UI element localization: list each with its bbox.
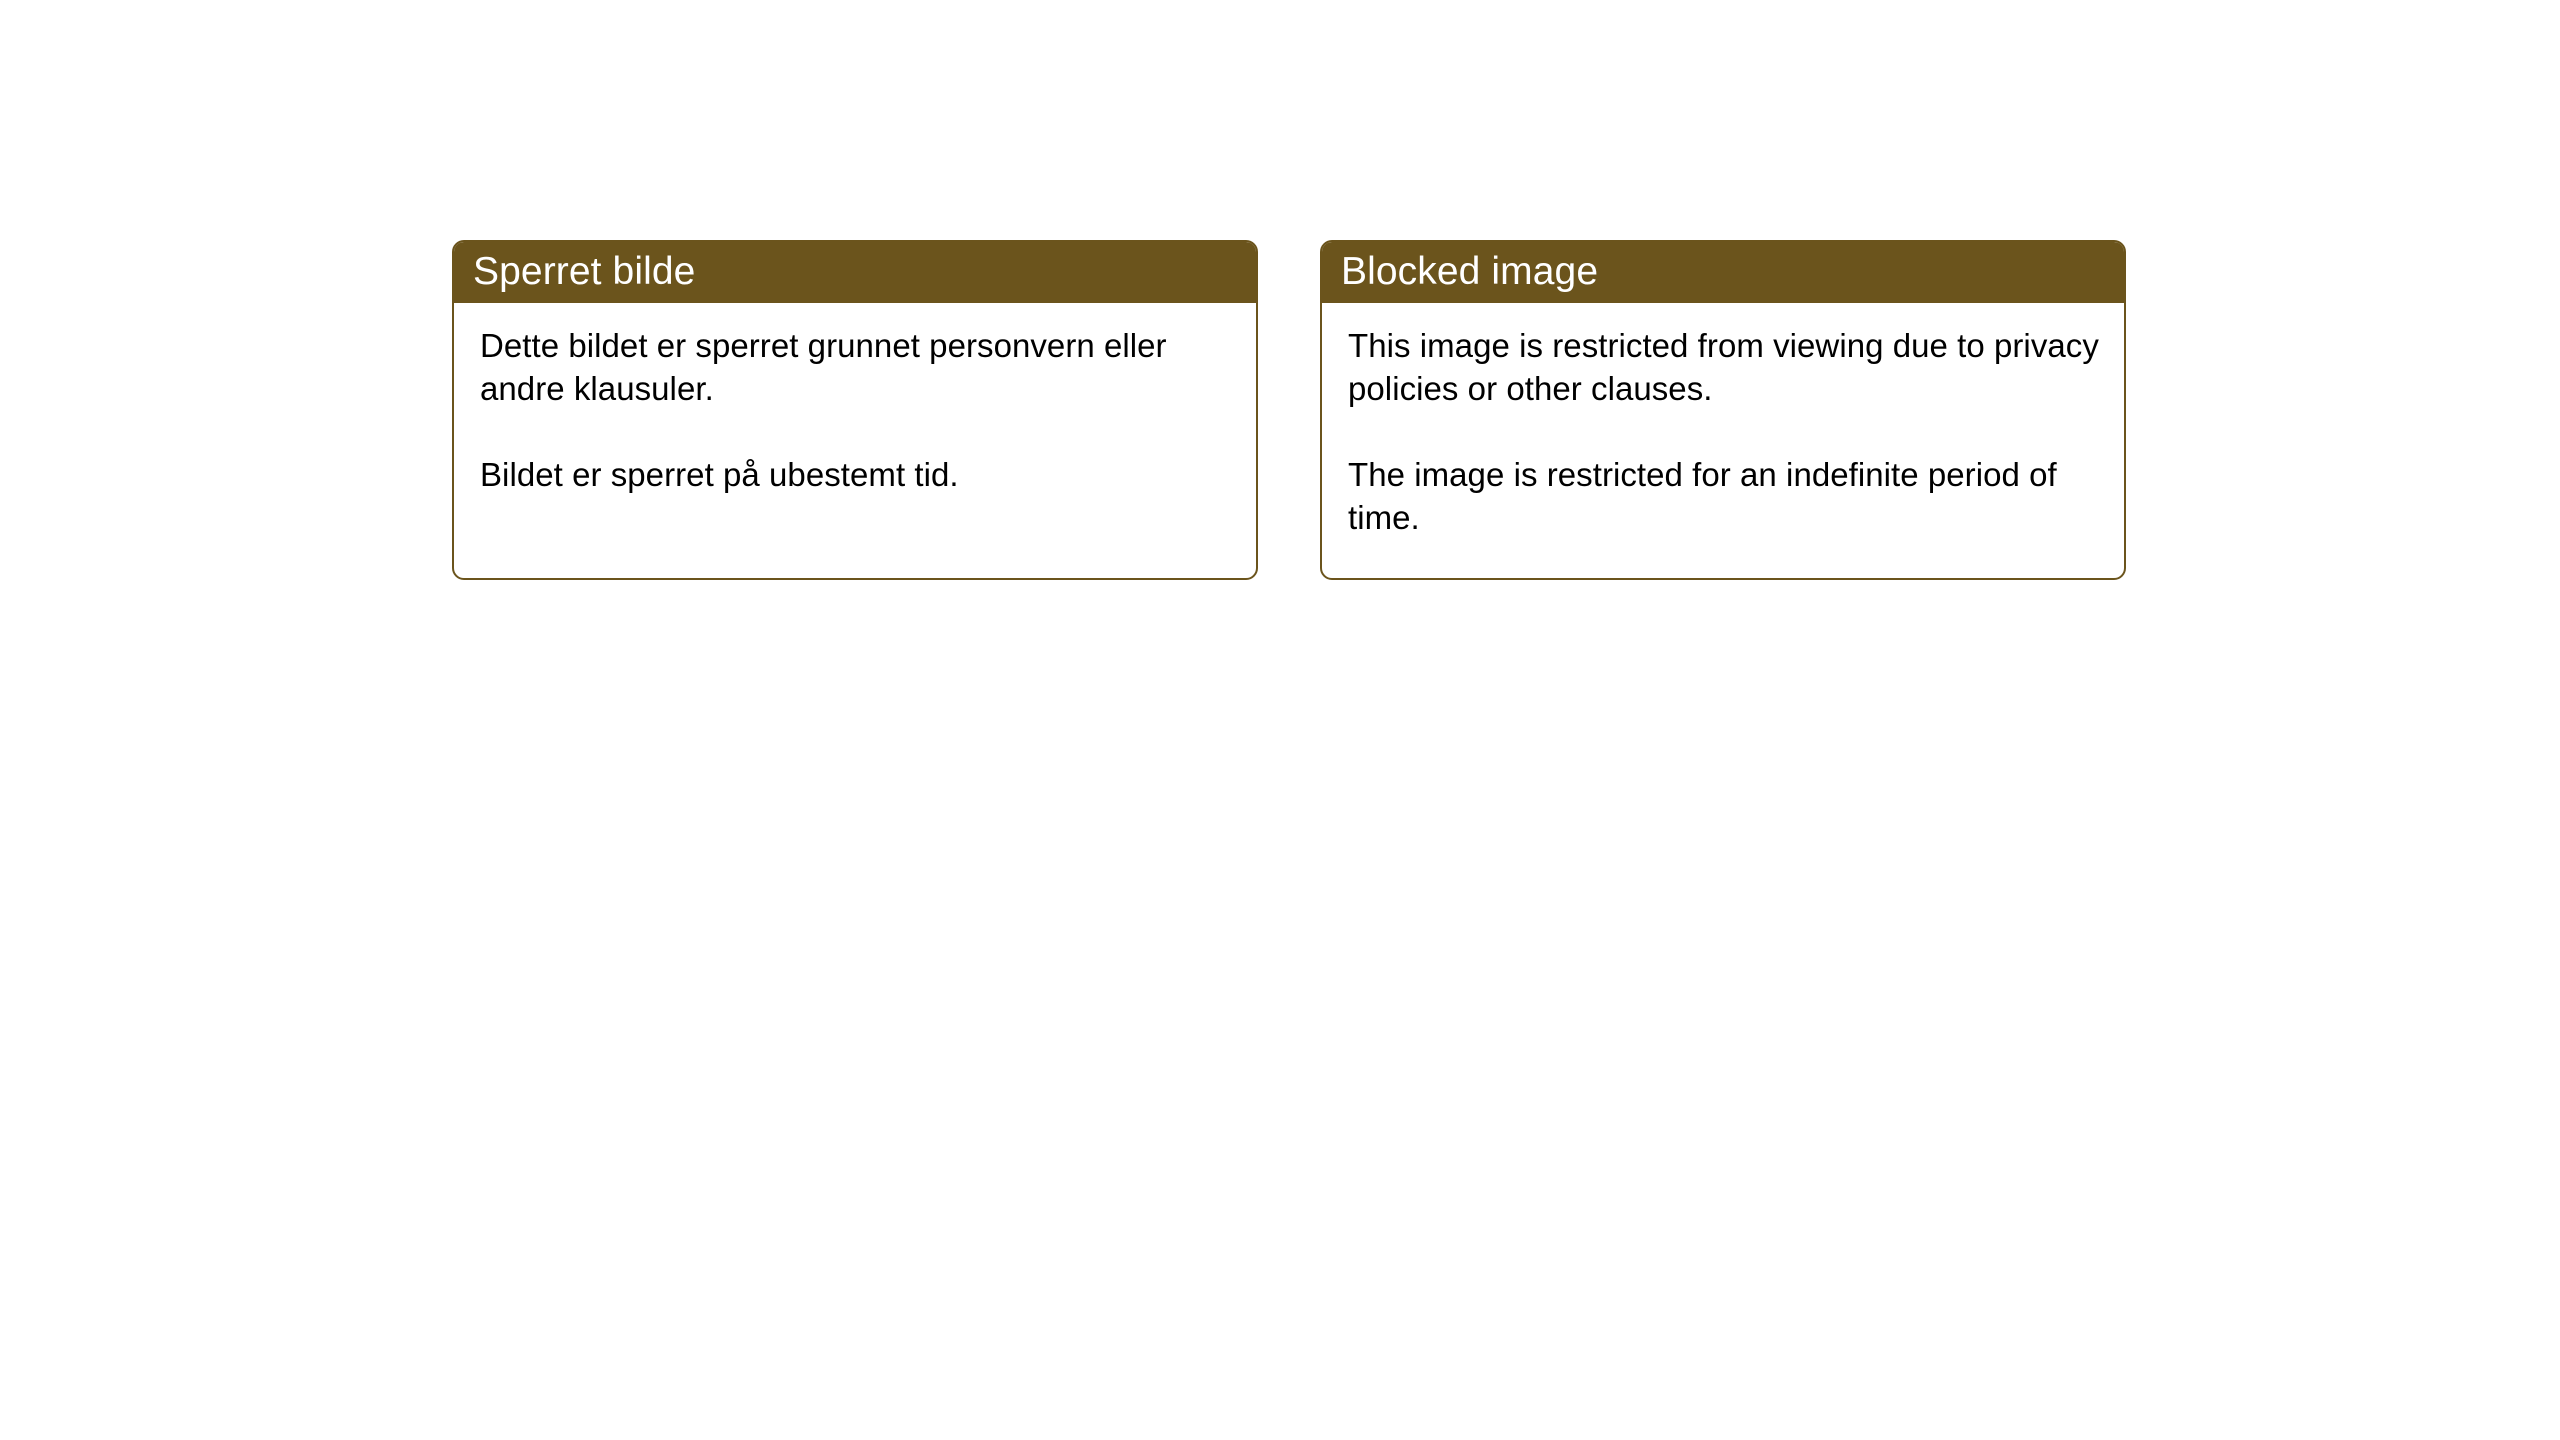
- blocked-image-notice-english: Blocked image This image is restricted f…: [1320, 240, 2126, 580]
- notice-header-norwegian: Sperret bilde: [452, 240, 1258, 303]
- notice-title-english: Blocked image: [1341, 250, 1598, 294]
- notice-paragraph: This image is restricted from viewing du…: [1348, 324, 2100, 410]
- notice-paragraph: The image is restricted for an indefinit…: [1348, 453, 2100, 539]
- page-root: Sperret bilde Dette bildet er sperret gr…: [0, 0, 2560, 1440]
- notice-header-english: Blocked image: [1320, 240, 2126, 303]
- notice-paragraph: Dette bildet er sperret grunnet personve…: [480, 324, 1232, 410]
- notice-body-english: This image is restricted from viewing du…: [1322, 303, 2124, 539]
- notice-paragraph: Bildet er sperret på ubestemt tid.: [480, 453, 1232, 496]
- notice-title-norwegian: Sperret bilde: [473, 250, 695, 294]
- blocked-image-notice-norwegian: Sperret bilde Dette bildet er sperret gr…: [452, 240, 1258, 580]
- notice-body-norwegian: Dette bildet er sperret grunnet personve…: [454, 303, 1256, 496]
